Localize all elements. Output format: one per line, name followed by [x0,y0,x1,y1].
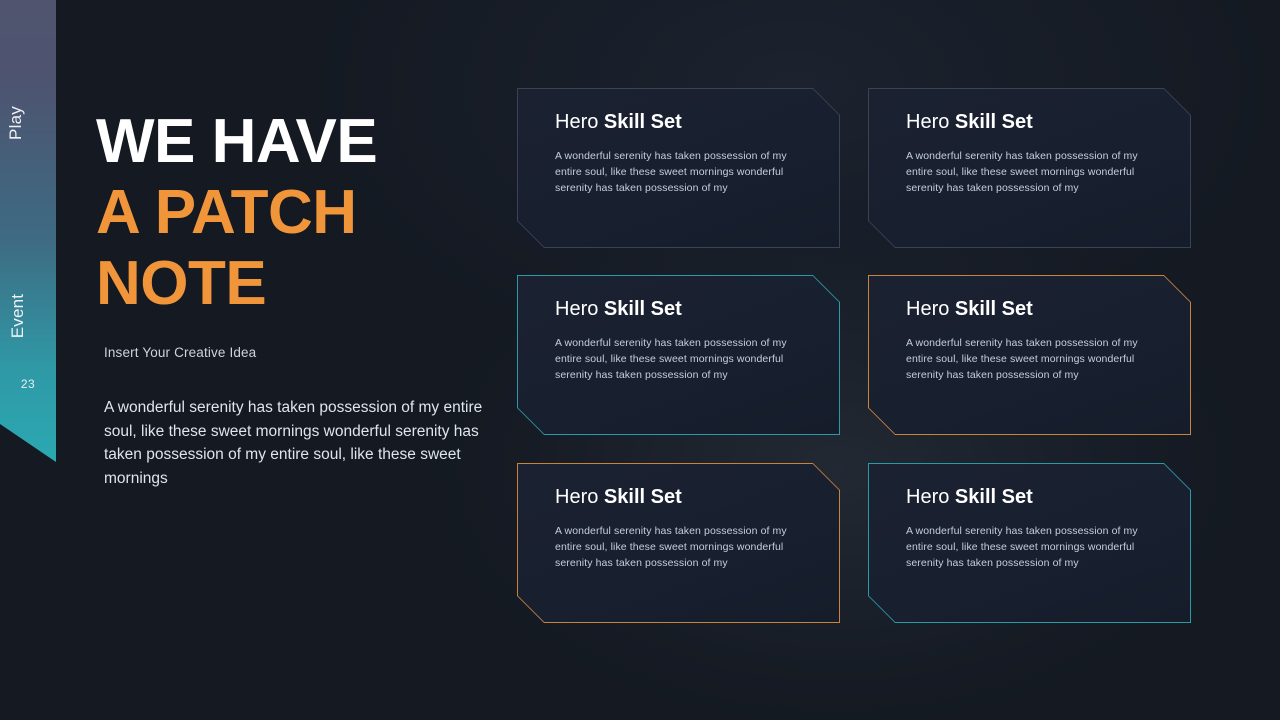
ribbon-label-play: Play [6,93,26,153]
card-title: Hero Skill Set [555,110,682,134]
page-title: WE HAVE A PATCH NOTE [96,106,516,319]
skill-card[interactable]: Hero Skill Set A wonderful serenity has … [868,275,1191,435]
card-title-bold: Skill Set [604,298,682,320]
card-body-text: A wonderful serenity has taken possessio… [906,523,1146,571]
skill-card[interactable]: Hero Skill Set A wonderful serenity has … [517,275,840,435]
page-title-line-3: NOTE [96,248,516,319]
card-body-text: A wonderful serenity has taken possessio… [906,335,1146,383]
card-title-thin: Hero [906,298,949,320]
card-body-text: A wonderful serenity has taken possessio… [906,148,1146,196]
card-title-bold: Skill Set [604,111,682,133]
card-title: Hero Skill Set [906,110,1033,134]
page-title-line-2: A PATCH [96,177,516,248]
skill-card[interactable]: Hero Skill Set A wonderful serenity has … [868,88,1191,248]
card-title-thin: Hero [555,486,598,508]
page-subtitle: Insert Your Creative Idea [104,345,256,360]
skill-card[interactable]: Hero Skill Set A wonderful serenity has … [868,463,1191,623]
skill-card-grid: Hero Skill Set A wonderful serenity has … [517,88,1191,623]
card-title-bold: Skill Set [955,111,1033,133]
slide-page-number: 23 [0,377,56,391]
card-title-thin: Hero [906,111,949,133]
slide-canvas: Play Event 23 WE HAVE A PATCH NOTE Inser… [0,0,1280,720]
card-title-thin: Hero [555,111,598,133]
card-title-thin: Hero [555,298,598,320]
card-title-thin: Hero [906,486,949,508]
card-title: Hero Skill Set [555,297,682,321]
ribbon-label-event: Event [8,283,28,349]
card-title: Hero Skill Set [906,485,1033,509]
card-title: Hero Skill Set [555,485,682,509]
card-title-bold: Skill Set [955,486,1033,508]
card-title: Hero Skill Set [906,297,1033,321]
skill-card[interactable]: Hero Skill Set A wonderful serenity has … [517,88,840,248]
card-body-text: A wonderful serenity has taken possessio… [555,523,795,571]
skill-card[interactable]: Hero Skill Set A wonderful serenity has … [517,463,840,623]
card-body-text: A wonderful serenity has taken possessio… [555,148,795,196]
card-body-text: A wonderful serenity has taken possessio… [555,335,795,383]
side-ribbon: Play Event 23 [0,0,56,462]
lead-paragraph: A wonderful serenity has taken possessio… [104,396,496,490]
card-title-bold: Skill Set [955,298,1033,320]
card-title-bold: Skill Set [604,486,682,508]
page-title-line-1: WE HAVE [96,106,516,177]
